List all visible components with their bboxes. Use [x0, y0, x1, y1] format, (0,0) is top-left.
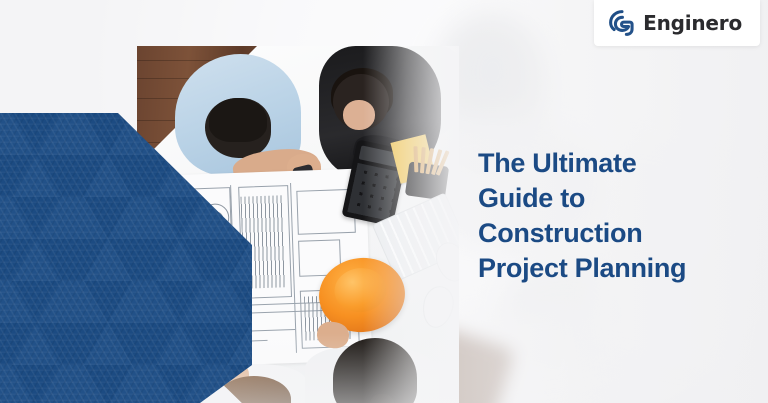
blog-header-banner: Enginero The Ultimate Guide to Construct…: [0, 0, 768, 403]
title-line-4: Project Planning: [478, 251, 756, 286]
title-line-2: Guide to: [478, 181, 756, 216]
title-line-1: The Ultimate: [478, 146, 756, 181]
photo-person-1-hair: [209, 98, 267, 142]
brand-name: Enginero: [643, 13, 742, 33]
enginero-circle-e-icon: [608, 9, 636, 37]
brand-logo[interactable]: Enginero: [594, 0, 760, 46]
page-title: The Ultimate Guide to Construction Proje…: [478, 146, 756, 286]
title-line-3: Construction: [478, 216, 756, 251]
